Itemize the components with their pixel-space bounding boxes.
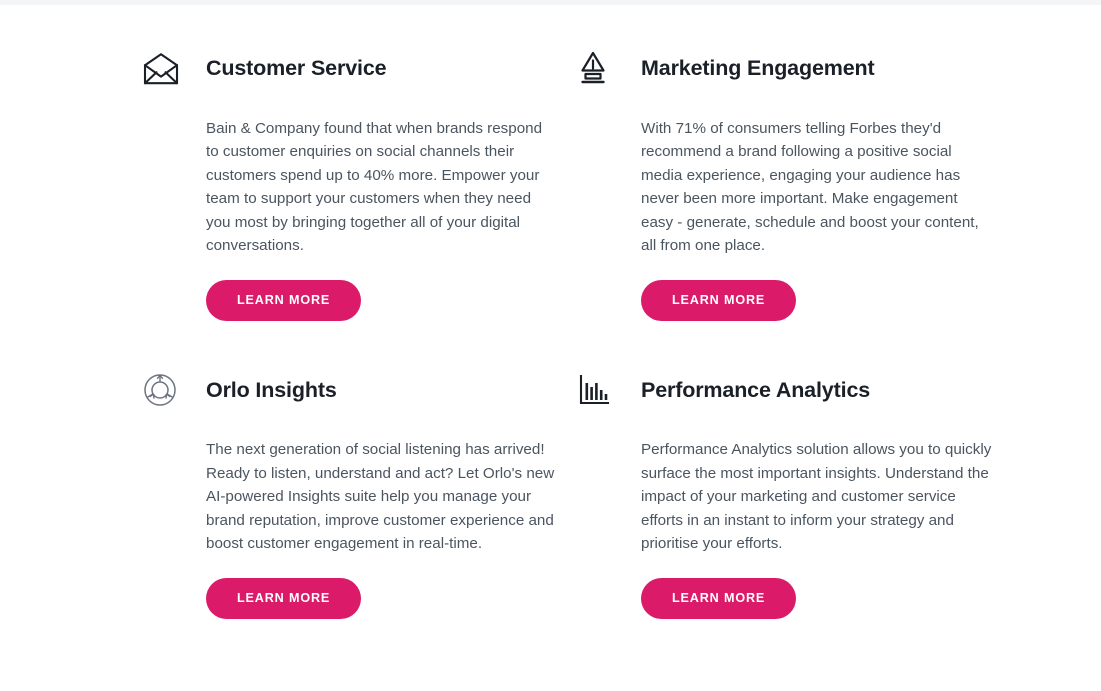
- card-cta-wrapper: Learn More: [143, 280, 543, 321]
- card-cta-wrapper: Learn More: [578, 280, 978, 321]
- page-title: Performance Analytics: [641, 379, 870, 403]
- features-grid: Customer Service Bain & Company found th…: [0, 46, 1101, 619]
- card-header: Performance Analytics: [578, 367, 978, 413]
- card-header: Customer Service: [143, 46, 543, 92]
- page-title: Marketing Engagement: [641, 57, 875, 81]
- learn-more-button[interactable]: Learn More: [206, 578, 361, 619]
- learn-more-button[interactable]: Learn More: [206, 280, 361, 321]
- bar-chart-icon: [578, 367, 624, 413]
- card-description: The next generation of social listening …: [143, 438, 556, 555]
- card-description: Performance Analytics solution allows yo…: [578, 438, 993, 555]
- card-cta-wrapper: Learn More: [578, 578, 978, 619]
- learn-more-button[interactable]: Learn More: [641, 280, 796, 321]
- feature-card-performance-analytics: Performance Analytics Performance Analyt…: [578, 367, 978, 619]
- card-header: Marketing Engagement: [578, 46, 978, 92]
- feature-card-orlo-insights: Orlo Insights The next generation of soc…: [143, 367, 543, 619]
- page-top-strip: [0, 0, 1101, 5]
- open-envelope-icon: [143, 46, 189, 92]
- feature-card-customer-service: Customer Service Bain & Company found th…: [143, 46, 543, 321]
- learn-more-button[interactable]: Learn More: [641, 578, 796, 619]
- card-description: Bain & Company found that when brands re…: [143, 117, 556, 257]
- card-header: Orlo Insights: [143, 367, 543, 413]
- page-title: Customer Service: [206, 57, 386, 81]
- pen-nib-icon: [578, 46, 624, 92]
- feature-card-marketing-engagement: Marketing Engagement With 71% of consume…: [578, 46, 978, 321]
- card-cta-wrapper: Learn More: [143, 578, 543, 619]
- card-description: With 71% of consumers telling Forbes the…: [578, 117, 993, 257]
- page-title: Orlo Insights: [206, 379, 337, 403]
- circular-arrows-icon: [143, 367, 189, 413]
